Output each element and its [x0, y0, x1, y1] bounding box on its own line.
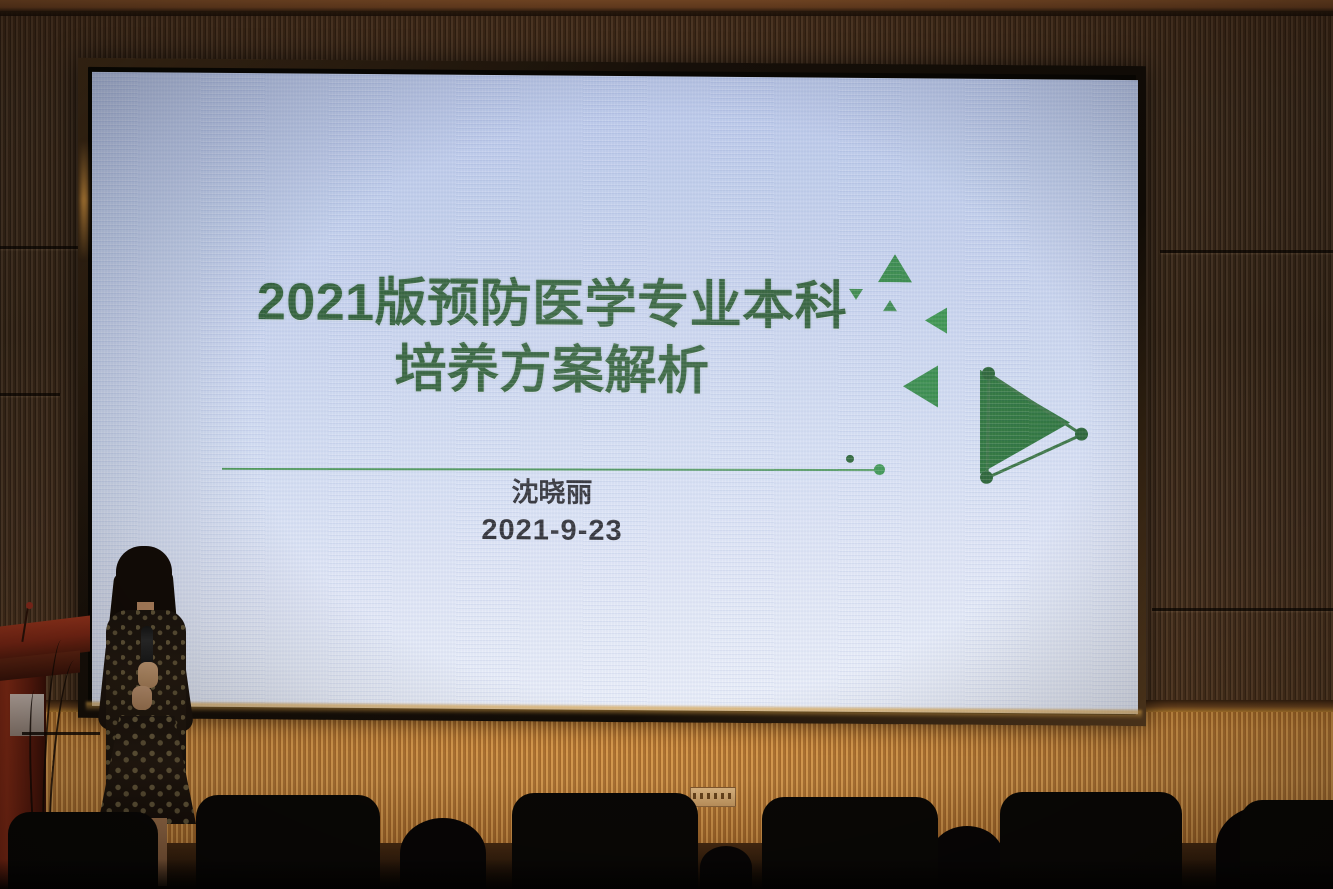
decor-dot-small	[846, 455, 854, 463]
slide-title: 2021版预防医学专业本科 培养方案解析	[92, 268, 1012, 407]
slide-byline: 沈晓丽 2021-9-23	[92, 472, 1012, 553]
foreground-shadow	[0, 859, 1333, 889]
wall-seam	[0, 393, 60, 396]
presenter-hand-upper	[138, 662, 158, 688]
wall-outlet-right	[690, 787, 736, 807]
screen-edge-glow	[80, 140, 88, 260]
wall-cable-horizontal	[22, 732, 100, 735]
slide-divider-dot	[874, 464, 885, 475]
presenter-hand-lower	[132, 686, 152, 710]
wall-seam	[1152, 608, 1333, 611]
slide-divider-line	[222, 468, 884, 471]
presentation-date: 2021-9-23	[92, 508, 1012, 553]
podium-mic-head	[26, 602, 33, 609]
projection-screen-surface: 2021版预防医学专业本科 培养方案解析 沈晓丽 2021-9-23	[92, 72, 1138, 714]
triangle-vertex-dot-right	[1075, 428, 1088, 441]
slide-title-line-2: 培养方案解析	[92, 334, 1012, 407]
ceiling-shadow	[0, 11, 1333, 16]
wall-seam	[1160, 250, 1333, 253]
slide-title-line-1: 2021版预防医学专业本科	[257, 273, 847, 336]
lecture-hall-photo: 2021版预防医学专业本科 培养方案解析 沈晓丽 2021-9-23	[0, 0, 1333, 889]
